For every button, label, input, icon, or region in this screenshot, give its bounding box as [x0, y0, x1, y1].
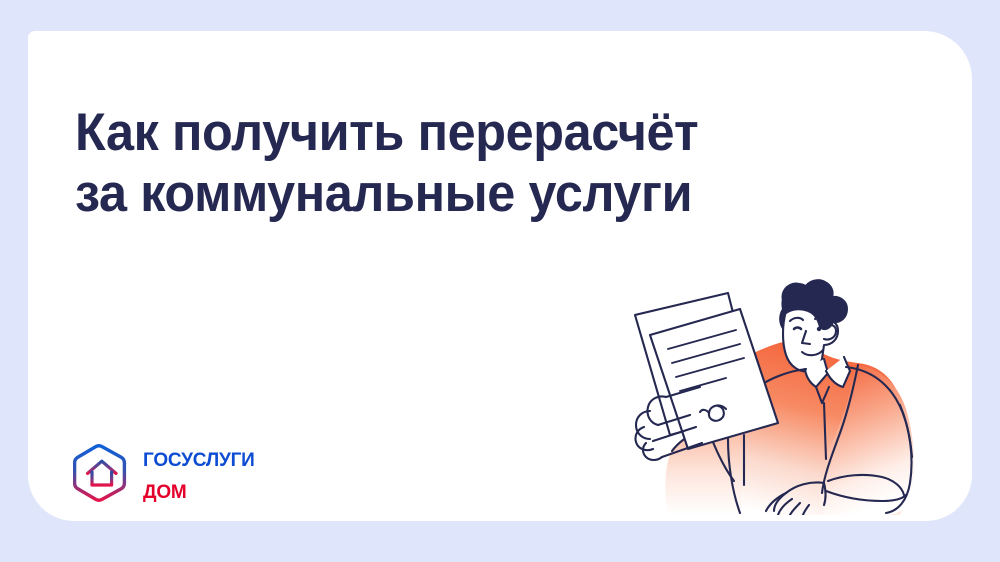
brand-word-gosuslugi: ГОСУСЛУГИ	[143, 444, 255, 471]
brand-wordmark: ГОСУСЛУГИ ДОМ	[143, 444, 255, 503]
page-title-line-2: за коммунальные услуги	[75, 163, 740, 224]
gosuslugi-dom-hexagon-house-icon	[73, 443, 131, 503]
page-title-line-1: Как получить перерасчёт	[75, 102, 740, 163]
illustration-svg	[610, 253, 940, 515]
brand-word-dom: ДОМ	[143, 476, 255, 503]
content-card: Как получить перерасчёт за коммунальные …	[28, 31, 972, 521]
page-title: Как получить перерасчёт за коммунальные …	[75, 102, 740, 224]
poster-canvas: Как получить перерасчёт за коммунальные …	[0, 0, 1000, 562]
illustration-man-holding-documents	[610, 253, 940, 515]
brand-logo[interactable]: ГОСУСЛУГИ ДОМ	[73, 443, 255, 503]
